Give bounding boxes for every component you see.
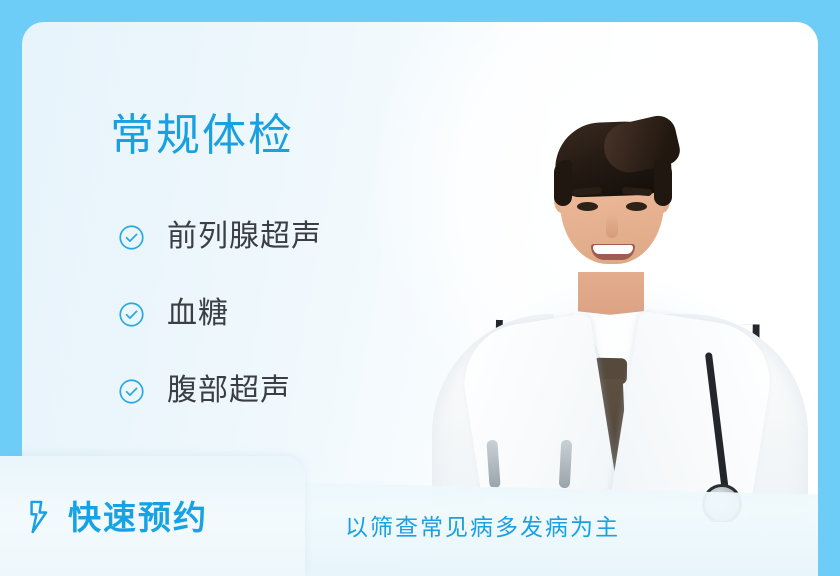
list-item: 腹部超声	[118, 372, 322, 410]
circle-check-icon	[118, 301, 145, 328]
page-title: 常规体检	[110, 114, 294, 158]
neck	[578, 272, 644, 342]
list-item-label: 腹部超声	[167, 376, 291, 406]
hair	[554, 120, 673, 198]
list-item: 血糖	[118, 295, 322, 333]
face	[560, 130, 664, 264]
eye-left	[577, 202, 598, 211]
circle-check-icon	[118, 378, 145, 405]
quick-booking-label: 快速预约	[68, 501, 208, 534]
screenshot-root: 常规体检 前列腺超声 血糖	[0, 0, 840, 576]
quick-booking-content: 快速预约	[24, 500, 208, 534]
eyebrow-right	[622, 187, 652, 197]
list-item-label: 血糖	[167, 299, 229, 329]
quick-booking-panel[interactable]: 快速预约	[0, 456, 305, 576]
list-item: 前列腺超声	[118, 218, 322, 256]
collar-right	[584, 311, 683, 413]
footer-description: 以筛查常见病多发病为主	[345, 516, 620, 539]
portrait-shadow	[454, 272, 784, 522]
stethoscope-tube	[705, 352, 730, 502]
circle-check-icon	[118, 224, 145, 251]
teeth	[593, 245, 633, 254]
tie-knot	[593, 358, 627, 385]
nose	[606, 214, 618, 238]
eye-right	[626, 202, 647, 211]
doctor-portrait	[414, 22, 818, 522]
collar-left	[536, 311, 635, 413]
mouth	[591, 244, 635, 260]
stethoscope-earpiece-right	[559, 440, 572, 489]
checklist: 前列腺超声 血糖 腹部超声	[118, 218, 322, 410]
ear-right	[654, 187, 670, 213]
sideburn-right	[654, 160, 672, 206]
dress-shirt	[554, 310, 662, 440]
ear-left	[554, 187, 570, 213]
list-item-label: 前列腺超声	[167, 222, 322, 252]
hair-sweep	[599, 112, 682, 177]
card-glow	[358, 22, 818, 442]
lightning-bolt-icon	[24, 500, 54, 534]
stethoscope-earpiece-left	[486, 440, 500, 489]
sideburn-left	[554, 160, 572, 206]
eyebrow-left	[572, 187, 602, 197]
